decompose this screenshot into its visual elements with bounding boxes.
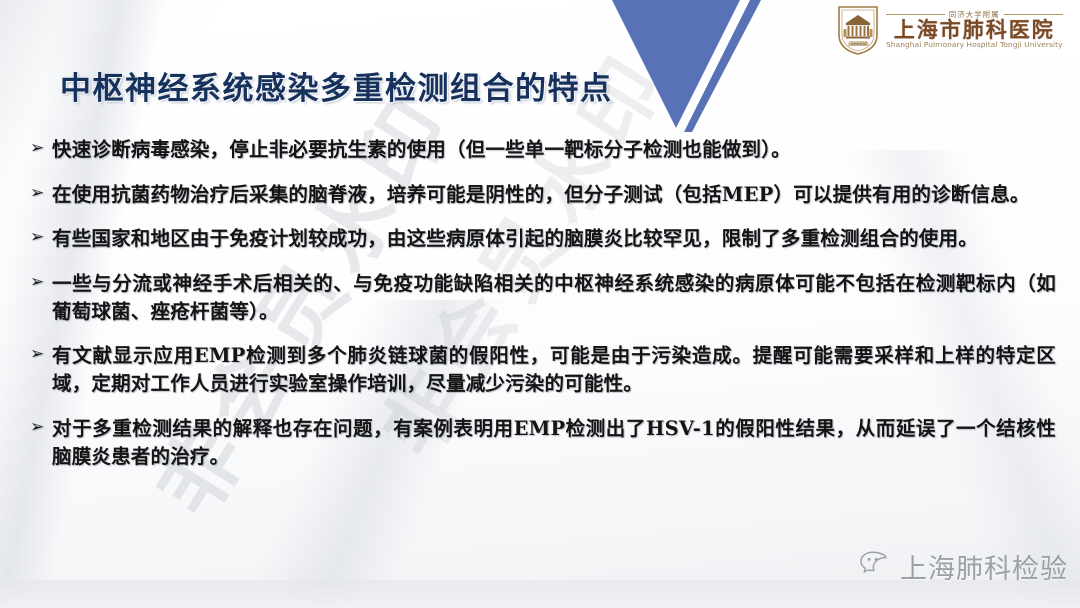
background-bottom-band: [0, 580, 1080, 608]
hospital-name-en: Shanghai Pulmonary Hospital Tongji Unive…: [886, 41, 1063, 48]
list-item-text: 在使用抗菌药物治疗后采集的脑脊液，培养可能是阴性的，但分子测试（包括MEP）可以…: [52, 181, 1056, 209]
wechat-icon: [860, 550, 894, 583]
wechat-watermark: 上海肺科检验: [860, 547, 1068, 586]
list-item: ➢ 有文献显示应用EMP检测到多个肺炎链球菌的假阳性，可能是由于污染造成。提醒可…: [30, 342, 1056, 397]
list-item: ➢ 一些与分流或神经手术后相关的、与免疫功能缺陷相关的中枢神经系统感染的病原体可…: [30, 270, 1056, 325]
list-item-text: 对于多重检测结果的解释也存在问题，有案例表明用EMP检测出了HSV-1的假阳性结…: [52, 415, 1056, 470]
affiliation-rule-left: [886, 14, 945, 15]
hospital-name-cn: 上海市肺科医院: [894, 19, 1055, 40]
arrow-bullet-icon: ➢: [30, 181, 52, 205]
svg-text:上海市肺科医院: 上海市肺科医院: [847, 41, 868, 46]
list-item: ➢ 在使用抗菌药物治疗后采集的脑脊液，培养可能是阴性的，但分子测试（包括MEP）…: [30, 181, 1056, 209]
affiliation-rule-right: [1004, 14, 1063, 15]
list-item-text: 有文献显示应用EMP检测到多个肺炎链球菌的假阳性，可能是由于污染造成。提醒可能需…: [52, 342, 1056, 397]
wechat-watermark-label: 上海肺科检验: [900, 547, 1068, 586]
arrow-bullet-icon: ➢: [30, 270, 52, 294]
arrow-bullet-icon: ➢: [30, 342, 52, 366]
list-item-text: 一些与分流或神经手术后相关的、与免疫功能缺陷相关的中枢神经系统感染的病原体可能不…: [52, 270, 1056, 325]
arrow-bullet-icon: ➢: [30, 136, 52, 160]
arrow-bullet-icon: ➢: [30, 225, 52, 249]
decorative-chevron: [600, 0, 780, 140]
list-item: ➢ 有些国家和地区由于免疫计划较成功，由这些病原体引起的脑膜炎比较罕见，限制了多…: [30, 225, 1056, 253]
slide-canvas: 非会员水印 非会员水印: [0, 0, 1080, 608]
hospital-logo-wordmark: 同济大学附属 上海市肺科医院 Shanghai Pulmonary Hospit…: [886, 11, 1063, 49]
list-item: ➢ 快速诊断病毒感染，停止非必要抗生素的使用（但一些单一靶标分子检测也能做到）。: [30, 136, 1056, 164]
arrow-bullet-icon: ➢: [30, 415, 52, 439]
bullet-list: ➢ 快速诊断病毒感染，停止非必要抗生素的使用（但一些单一靶标分子检测也能做到）。…: [30, 136, 1056, 487]
hospital-shield-building-icon: 上海市肺科医院: [836, 4, 880, 56]
list-item-text: 快速诊断病毒感染，停止非必要抗生素的使用（但一些单一靶标分子检测也能做到）。: [52, 136, 1056, 164]
page-title: 中枢神经系统感染多重检测组合的特点: [60, 63, 613, 108]
list-item: ➢ 对于多重检测结果的解释也存在问题，有案例表明用EMP检测出了HSV-1的假阳…: [30, 415, 1056, 470]
list-item-text: 有些国家和地区由于免疫计划较成功，由这些病原体引起的脑膜炎比较罕见，限制了多重检…: [52, 225, 1056, 253]
hospital-logo: 上海市肺科医院 同济大学附属 上海市肺科医院 Shanghai Pulmonar…: [828, 0, 1080, 59]
